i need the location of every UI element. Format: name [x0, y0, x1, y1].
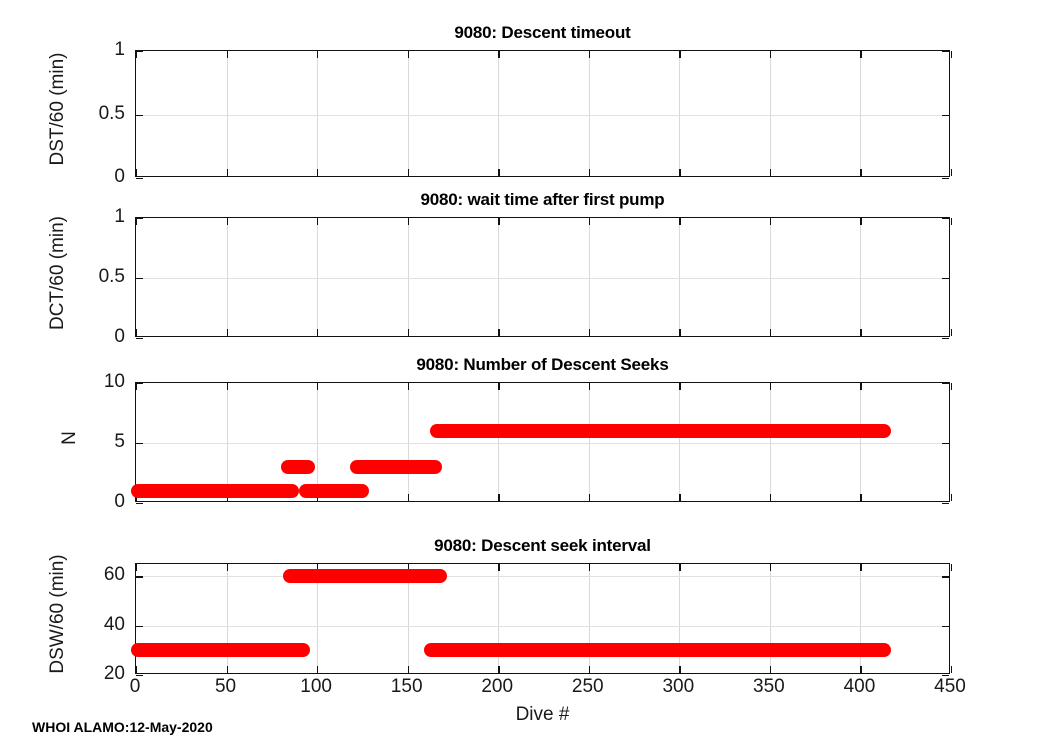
y-tick-labels: 0510	[77, 382, 125, 502]
data-marks	[136, 383, 949, 501]
y-tick-label: 0	[114, 491, 125, 513]
y-tick-mark	[136, 338, 143, 339]
plot-area	[135, 382, 950, 502]
x-tick-mark	[317, 218, 318, 225]
y-tick-label: 0	[114, 326, 125, 348]
y-axis-label: DCT/60 (min)	[47, 188, 69, 358]
y-tick-label: 1	[114, 206, 125, 228]
x-tick-label: 200	[481, 676, 513, 698]
vertical-gridline	[498, 218, 499, 336]
x-tick-mark	[679, 494, 680, 501]
x-tick-mark	[951, 218, 952, 225]
tick-marks	[136, 564, 949, 673]
data-marker-run	[424, 643, 891, 657]
gridlines	[136, 383, 949, 501]
x-tick-mark	[589, 494, 590, 501]
x-tick-mark	[951, 564, 952, 571]
vertical-gridline	[770, 383, 771, 501]
x-tick-mark	[951, 494, 952, 501]
x-tick-mark	[679, 51, 680, 58]
x-tick-mark	[498, 51, 499, 58]
x-tick-mark	[227, 329, 228, 336]
horizontal-gridline	[136, 278, 949, 279]
subplot-wait-time-after-first-pump: 9080: wait time after first pump DCT/60 …	[135, 217, 950, 337]
y-tick-label: 20	[104, 663, 125, 685]
y-tick-label: 0	[114, 166, 125, 188]
x-tick-label: 300	[662, 676, 694, 698]
subplot-title: 9080: Descent seek interval	[135, 536, 950, 556]
y-tick-label: 1	[114, 39, 125, 61]
x-tick-label: 50	[215, 676, 236, 698]
subplot-title: 9080: Descent timeout	[135, 23, 950, 43]
x-tick-mark	[408, 494, 409, 501]
x-tick-mark	[498, 564, 499, 571]
data-marker-run	[283, 569, 447, 583]
x-tick-mark	[679, 329, 680, 336]
x-tick-mark	[589, 564, 590, 571]
horizontal-gridline	[136, 115, 949, 116]
x-tick-label: 450	[934, 676, 966, 698]
vertical-gridline	[770, 51, 771, 176]
vertical-gridline	[589, 564, 590, 673]
vertical-gridline	[589, 383, 590, 501]
x-tick-mark	[770, 494, 771, 501]
y-tick-mark	[942, 218, 949, 219]
vertical-gridline	[498, 383, 499, 501]
y-tick-label: 60	[104, 564, 125, 586]
vertical-gridline	[227, 383, 228, 501]
subplot-title: 9080: wait time after first pump	[135, 190, 950, 210]
x-tick-mark	[227, 218, 228, 225]
vertical-gridline	[498, 51, 499, 176]
vertical-gridline	[860, 218, 861, 336]
x-tick-mark	[589, 329, 590, 336]
vertical-gridline	[770, 564, 771, 673]
x-tick-mark	[227, 169, 228, 176]
figure-footer-note: WHOI ALAMO:12-May-2020	[32, 719, 213, 735]
vertical-gridline	[860, 51, 861, 176]
vertical-gridline	[408, 564, 409, 673]
vertical-gridline	[227, 51, 228, 176]
x-tick-mark	[408, 169, 409, 176]
plot-area	[135, 563, 950, 674]
x-tick-label: 150	[391, 676, 423, 698]
vertical-gridline	[679, 564, 680, 673]
x-tick-mark	[860, 383, 861, 390]
x-tick-mark	[770, 564, 771, 571]
x-tick-labels: 050100150200250300350400450	[135, 674, 950, 704]
y-tick-mark	[942, 383, 949, 384]
vertical-gridline	[860, 564, 861, 673]
x-tick-mark	[951, 329, 952, 336]
x-tick-mark	[951, 383, 952, 390]
y-tick-mark	[942, 626, 949, 627]
x-tick-mark	[951, 666, 952, 673]
x-tick-mark	[136, 329, 137, 336]
x-tick-mark	[860, 218, 861, 225]
x-tick-mark	[317, 329, 318, 336]
x-tick-mark	[136, 383, 137, 390]
tick-marks	[136, 218, 949, 336]
vertical-gridline	[408, 383, 409, 501]
horizontal-gridline	[136, 576, 949, 577]
y-tick-mark	[942, 178, 949, 179]
x-tick-mark	[408, 666, 409, 673]
y-tick-label: 0.5	[99, 266, 125, 288]
x-tick-mark	[770, 169, 771, 176]
y-tick-mark	[136, 218, 143, 219]
data-marker-run	[131, 484, 299, 498]
x-tick-label: 100	[300, 676, 332, 698]
x-tick-mark	[860, 169, 861, 176]
vertical-gridline	[317, 383, 318, 501]
y-tick-labels: 00.51	[77, 217, 125, 337]
subplot-number-of-descent-seeks: 9080: Number of Descent Seeks N 0510	[135, 382, 950, 502]
y-tick-mark	[136, 503, 143, 504]
x-tick-mark	[770, 666, 771, 673]
vertical-gridline	[860, 383, 861, 501]
x-tick-mark	[317, 564, 318, 571]
x-tick-mark	[498, 666, 499, 673]
subplot-descent-timeout: 9080: Descent timeout DST/60 (min) 00.51	[135, 50, 950, 177]
x-tick-mark	[136, 666, 137, 673]
horizontal-gridline	[136, 443, 949, 444]
x-tick-mark	[589, 218, 590, 225]
x-tick-mark	[408, 383, 409, 390]
x-tick-mark	[860, 564, 861, 571]
x-tick-mark	[589, 383, 590, 390]
x-tick-mark	[317, 383, 318, 390]
x-tick-mark	[860, 51, 861, 58]
x-tick-mark	[860, 666, 861, 673]
tick-marks	[136, 383, 949, 501]
x-tick-mark	[227, 494, 228, 501]
y-tick-mark	[942, 115, 949, 116]
y-tick-mark	[136, 383, 143, 384]
x-tick-mark	[860, 329, 861, 336]
y-tick-mark	[136, 278, 143, 279]
data-marks	[136, 564, 949, 673]
data-marker-run	[281, 460, 315, 474]
vertical-gridline	[317, 51, 318, 176]
x-tick-label: 250	[572, 676, 604, 698]
x-tick-mark	[679, 666, 680, 673]
plot-area	[135, 50, 950, 177]
y-tick-mark	[942, 338, 949, 339]
vertical-gridline	[227, 218, 228, 336]
y-tick-mark	[942, 443, 949, 444]
y-tick-mark	[136, 626, 143, 627]
subplot-title: 9080: Number of Descent Seeks	[135, 355, 950, 375]
vertical-gridline	[317, 218, 318, 336]
x-tick-mark	[227, 51, 228, 58]
y-tick-labels: 204060	[77, 563, 125, 674]
x-tick-mark	[951, 51, 952, 58]
x-tick-mark	[227, 564, 228, 571]
vertical-gridline	[589, 218, 590, 336]
x-tick-mark	[679, 218, 680, 225]
vertical-gridline	[498, 564, 499, 673]
x-tick-mark	[317, 494, 318, 501]
x-tick-mark	[136, 564, 137, 571]
x-tick-mark	[136, 218, 137, 225]
x-tick-mark	[589, 51, 590, 58]
data-marker-run	[430, 424, 891, 438]
gridlines	[136, 51, 949, 176]
data-marks	[136, 51, 949, 176]
x-tick-mark	[679, 564, 680, 571]
x-tick-mark	[860, 494, 861, 501]
x-tick-mark	[408, 564, 409, 571]
x-tick-mark	[770, 218, 771, 225]
x-tick-mark	[498, 329, 499, 336]
x-tick-mark	[408, 218, 409, 225]
x-tick-mark	[498, 494, 499, 501]
subplot-descent-seek-interval: 9080: Descent seek interval DSW/60 (min)…	[135, 563, 950, 674]
x-tick-mark	[770, 51, 771, 58]
x-tick-mark	[589, 169, 590, 176]
vertical-gridline	[679, 51, 680, 176]
x-tick-mark	[498, 169, 499, 176]
x-tick-mark	[136, 169, 137, 176]
data-marker-run	[131, 643, 310, 657]
x-tick-mark	[227, 666, 228, 673]
gridlines	[136, 564, 949, 673]
y-tick-mark	[942, 51, 949, 52]
vertical-gridline	[317, 564, 318, 673]
y-tick-mark	[136, 178, 143, 179]
data-marker-run	[350, 460, 442, 474]
y-tick-mark	[136, 51, 143, 52]
tick-marks	[136, 51, 949, 176]
x-tick-label: 400	[844, 676, 876, 698]
y-tick-label: 10	[104, 371, 125, 393]
x-tick-mark	[408, 329, 409, 336]
vertical-gridline	[227, 564, 228, 673]
x-tick-mark	[136, 494, 137, 501]
x-tick-label: 0	[130, 676, 141, 698]
x-tick-mark	[679, 169, 680, 176]
x-tick-mark	[498, 383, 499, 390]
y-tick-mark	[942, 503, 949, 504]
x-tick-mark	[317, 51, 318, 58]
vertical-gridline	[770, 218, 771, 336]
x-tick-mark	[498, 218, 499, 225]
vertical-gridline	[408, 51, 409, 176]
y-axis-label: DST/60 (min)	[47, 24, 69, 194]
plot-area	[135, 217, 950, 337]
y-tick-label: 40	[104, 614, 125, 636]
x-tick-mark	[317, 169, 318, 176]
y-tick-label: 0.5	[99, 103, 125, 125]
vertical-gridline	[589, 51, 590, 176]
y-tick-mark	[136, 576, 143, 577]
matlab-figure: 9080: Descent timeout DST/60 (min) 00.51…	[0, 0, 1050, 750]
x-tick-mark	[589, 666, 590, 673]
x-tick-mark	[408, 51, 409, 58]
y-tick-mark	[942, 576, 949, 577]
x-tick-mark	[136, 51, 137, 58]
gridlines	[136, 218, 949, 336]
x-tick-mark	[227, 383, 228, 390]
y-tick-mark	[942, 278, 949, 279]
x-tick-label: 350	[753, 676, 785, 698]
x-tick-mark	[679, 383, 680, 390]
data-marker-run	[299, 484, 369, 498]
y-tick-labels: 00.51	[77, 50, 125, 177]
horizontal-gridline	[136, 626, 949, 627]
y-tick-mark	[136, 115, 143, 116]
x-axis-label: Dive #	[135, 704, 950, 726]
vertical-gridline	[679, 383, 680, 501]
x-tick-mark	[770, 329, 771, 336]
y-axis-label: DSW/60 (min)	[47, 529, 69, 699]
vertical-gridline	[408, 218, 409, 336]
data-marks	[136, 218, 949, 336]
x-tick-mark	[317, 666, 318, 673]
x-tick-mark	[951, 169, 952, 176]
x-tick-mark	[770, 383, 771, 390]
y-tick-mark	[136, 443, 143, 444]
y-tick-label: 5	[114, 431, 125, 453]
vertical-gridline	[679, 218, 680, 336]
